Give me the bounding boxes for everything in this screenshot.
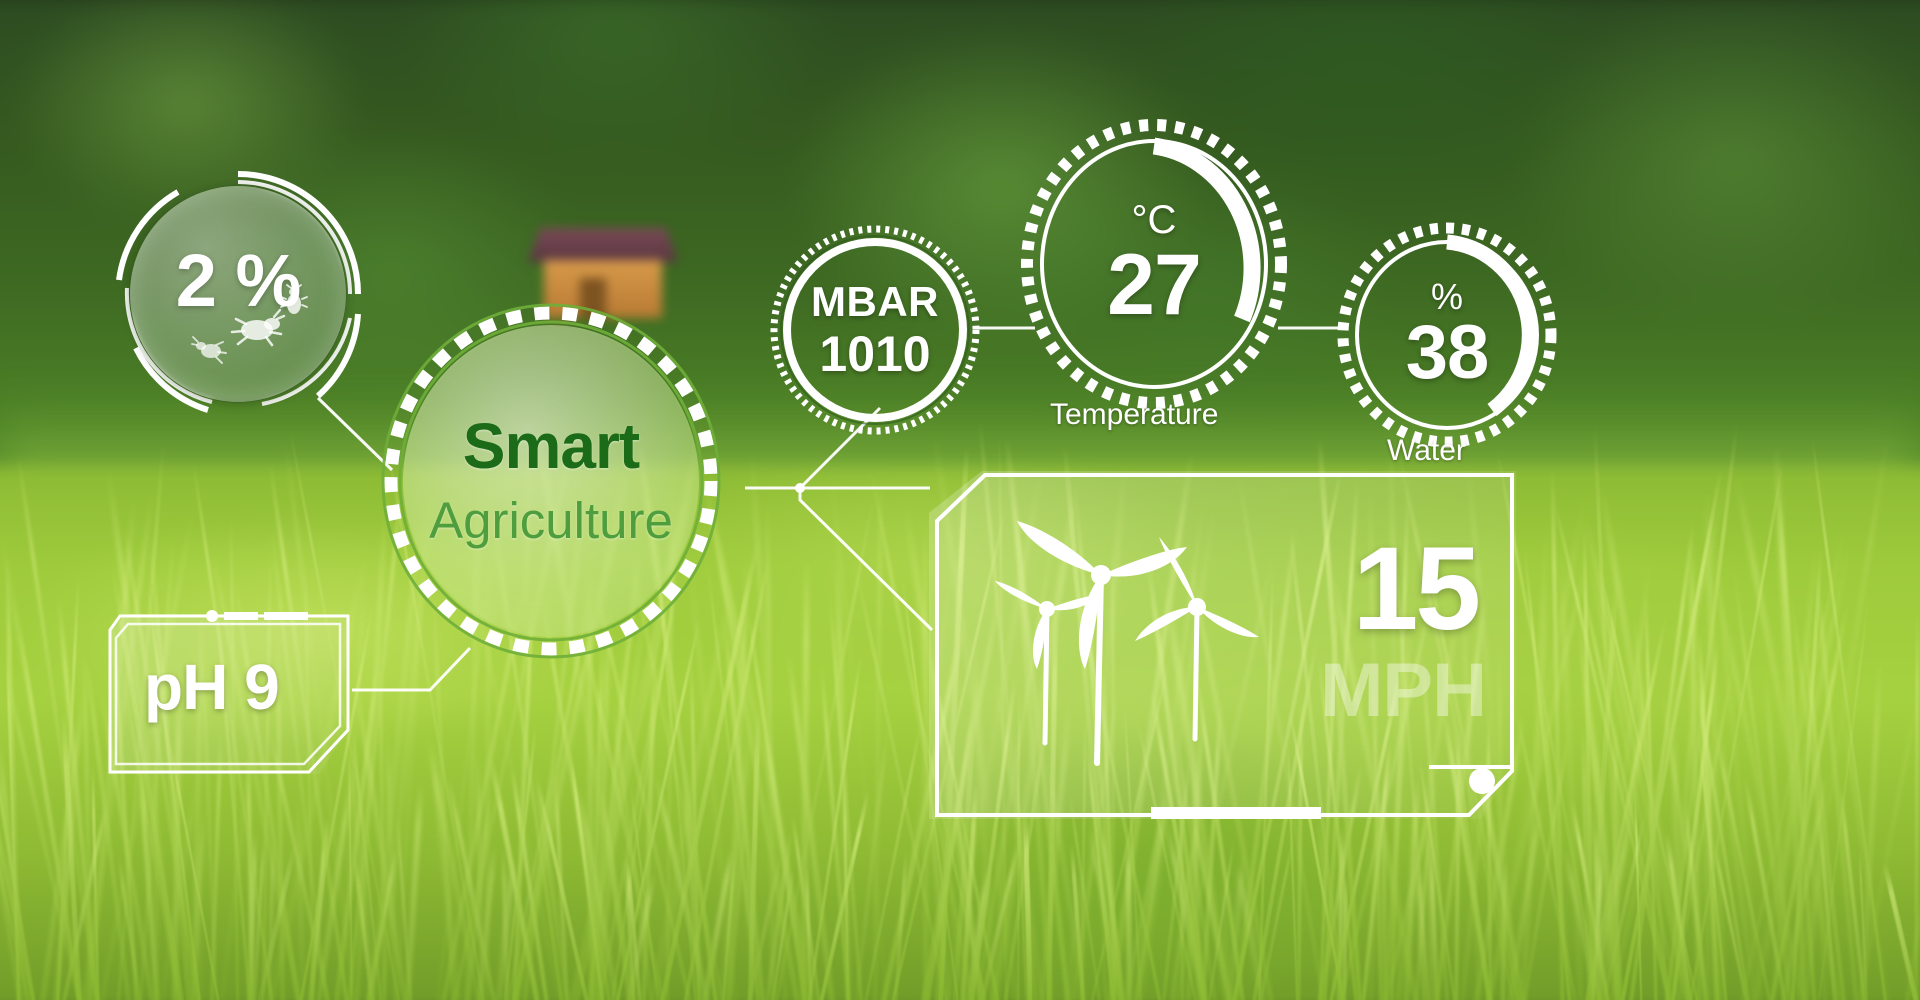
hub-title-line1: Smart [381,409,721,483]
insect-icon [230,308,284,348]
hub-title-line2: Agriculture [381,491,721,550]
pressure-unit-label: MBAR [811,281,939,323]
insect-icon [192,334,226,364]
water-caption: Water [1387,434,1466,468]
smart-agriculture-hub[interactable]: Smart Agriculture [381,303,721,659]
ph-value: pH 9 [144,650,279,724]
water-readout: % 38 [1406,279,1489,391]
temperature-caption: Temperature [1050,398,1218,432]
temperature-readout: °C 27 [1107,200,1201,328]
wind-speed-panel[interactable]: 15 MPH [929,471,1516,819]
pest-level-gauge[interactable]: 2 % [112,168,364,420]
wind-value: 15 [1353,521,1478,657]
insect-icon [280,286,308,316]
pressure-readout: MBAR 1010 [811,281,939,379]
wind-unit-label: MPH [1320,647,1486,734]
water-gauge[interactable]: % 38 Water [1337,222,1557,448]
water-value: 38 [1406,315,1489,391]
smart-agriculture-scene: 2 % [0,0,1920,1000]
pressure-value: 1010 [811,329,939,379]
temperature-value: 27 [1107,242,1201,328]
pressure-gauge[interactable]: MBAR 1010 [769,224,981,436]
temperature-gauge[interactable]: °C 27 Temperature [1020,118,1288,410]
ph-panel[interactable]: pH 9 [104,608,354,780]
temperature-unit-label: °C [1107,200,1201,240]
